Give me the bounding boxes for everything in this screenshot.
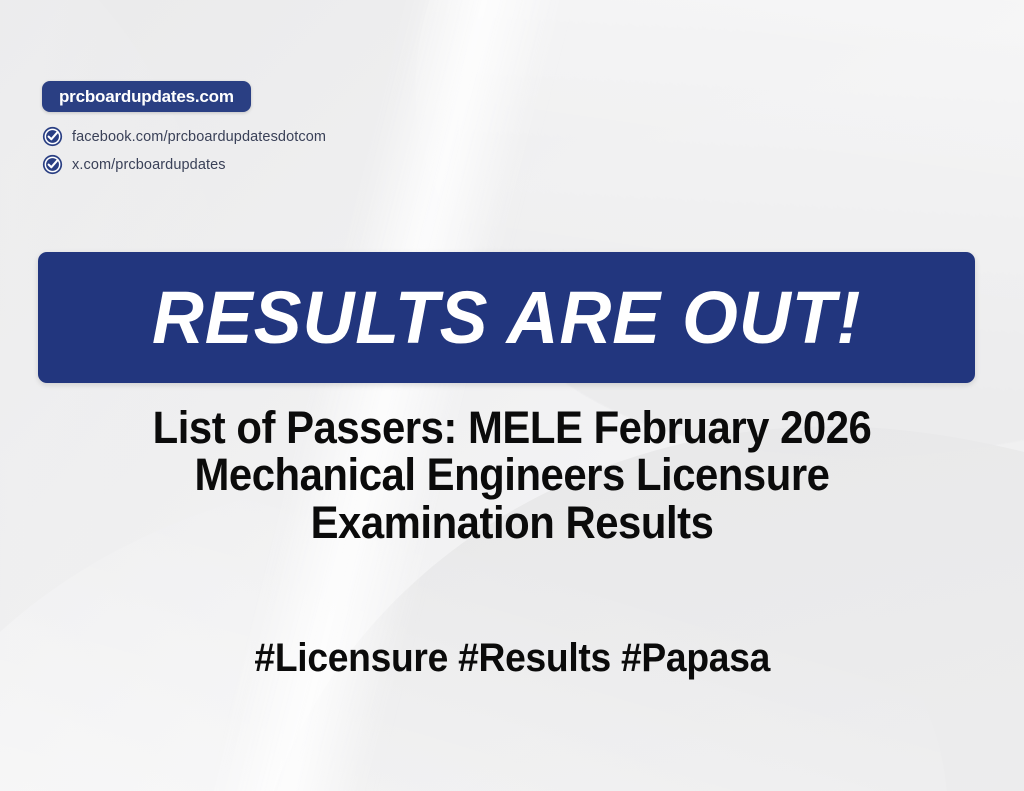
page-title-line: List of Passers: MELE February 2026 [75, 404, 949, 451]
social-links-list: facebook.com/prcboardupdatesdotcom x.com… [42, 126, 326, 175]
hashtags: #Licensure #Results #Papasa [42, 636, 982, 681]
social-link-label: x.com/prcboardupdates [72, 157, 226, 173]
page-title: List of Passers: MELE February 2026 Mech… [42, 404, 982, 546]
poster-content: prcboardupdates.com facebook.com/prcboar… [0, 0, 1024, 791]
page-title-line: Mechanical Engineers Licensure [75, 451, 949, 498]
social-link-label: facebook.com/prcboardupdatesdotcom [72, 129, 326, 145]
poster-canvas: prcboardupdates.com facebook.com/prcboar… [0, 0, 1024, 791]
social-link-x: x.com/prcboardupdates [42, 154, 326, 175]
results-banner: RESULTS ARE OUT! [38, 252, 975, 383]
social-link-facebook: facebook.com/prcboardupdatesdotcom [42, 126, 326, 147]
brand-pill: prcboardupdates.com [42, 81, 251, 112]
verified-check-icon [42, 126, 63, 147]
verified-check-icon [42, 154, 63, 175]
brand-pill-label: prcboardupdates.com [59, 87, 234, 107]
results-banner-label: RESULTS ARE OUT! [152, 275, 861, 360]
page-title-line: Examination Results [75, 499, 949, 546]
hashtags-label: #Licensure #Results #Papasa [254, 636, 770, 681]
